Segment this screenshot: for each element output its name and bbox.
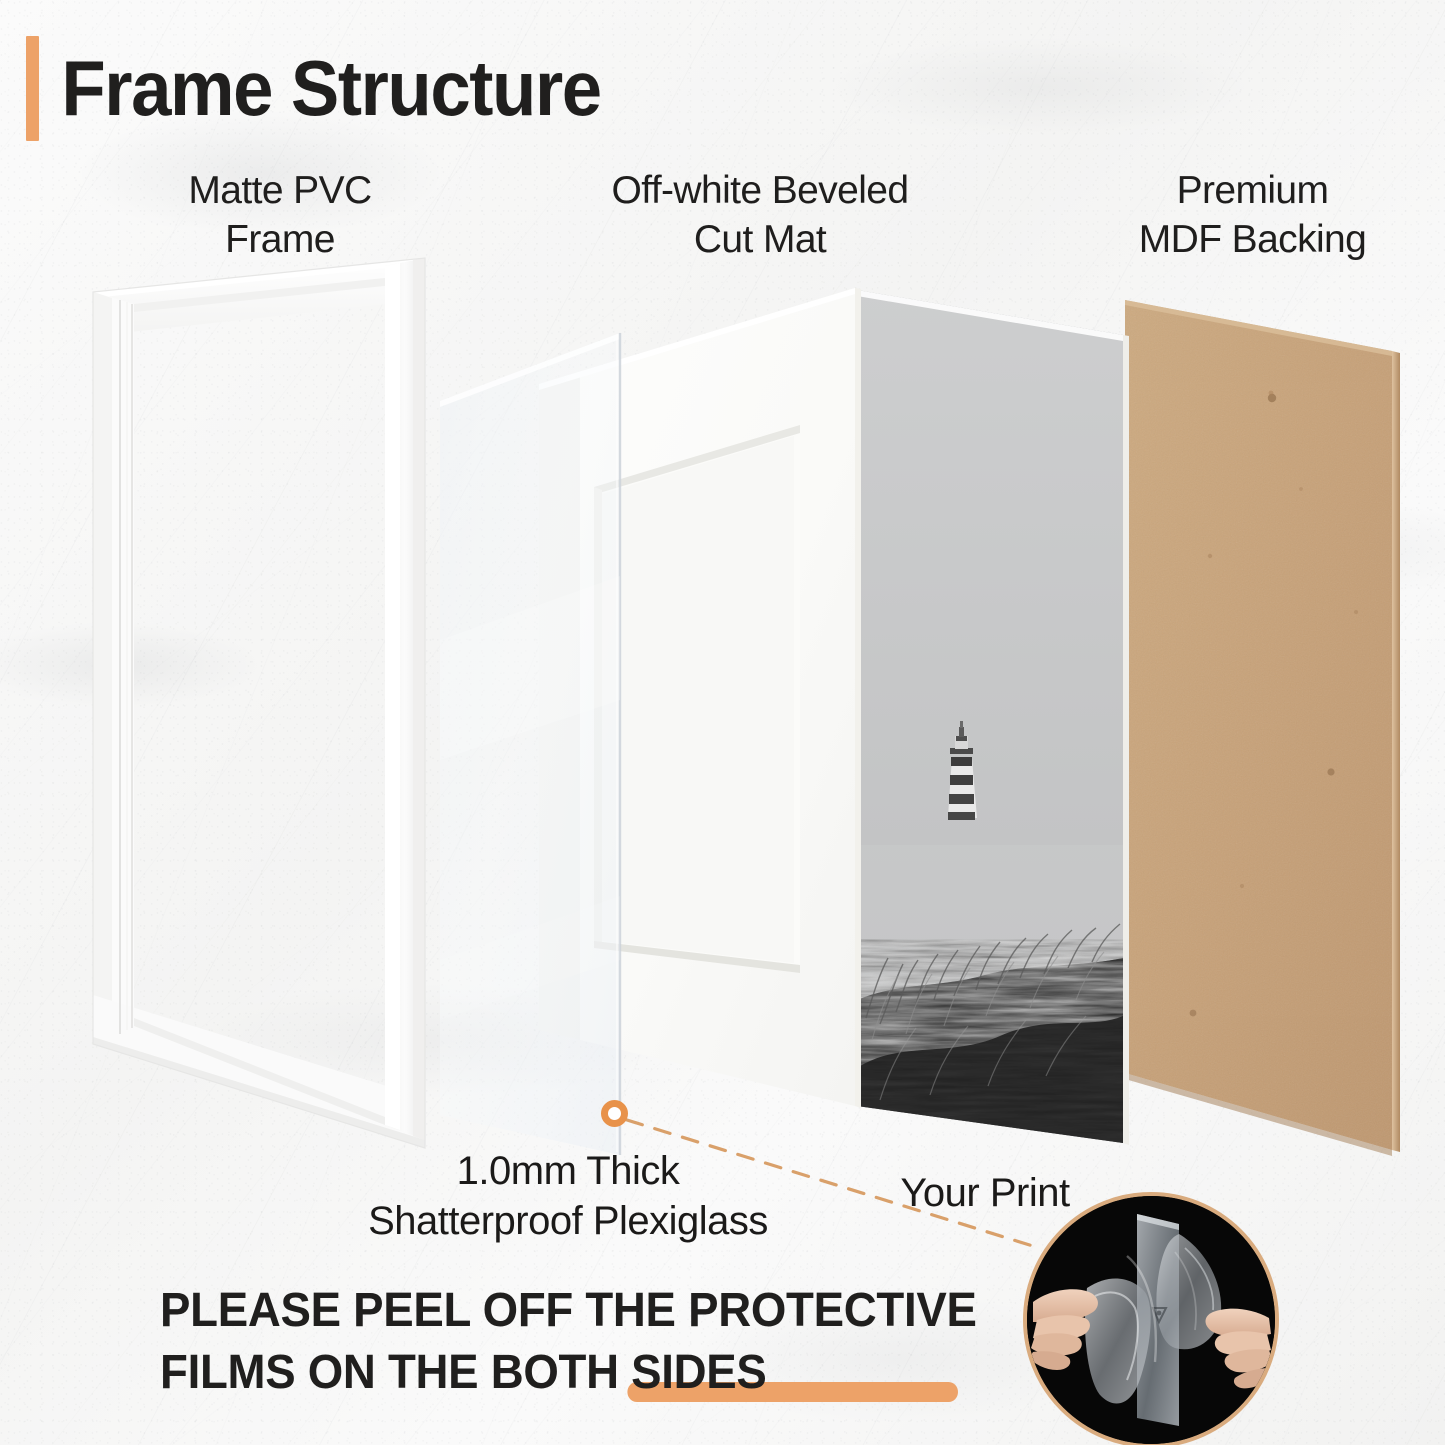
peel-notice-highlight: BOTH SIDES — [491, 1346, 767, 1399]
plexiglass-layer — [440, 333, 620, 1155]
peel-notice-prefix: FILMS ON THE — [160, 1346, 491, 1399]
peel-notice-line-2: FILMS ON THE BOTH SIDES — [160, 1342, 767, 1404]
mdf-backing-layer — [1120, 290, 1400, 1160]
callout-line-2: Shatterproof Plexiglass — [258, 1196, 878, 1246]
callout-your-print: Your Print — [855, 1168, 1115, 1218]
pvc-frame-layer — [93, 258, 425, 1148]
callout-line-1: 1.0mm Thick — [258, 1146, 878, 1196]
peel-protective-film-photo — [1023, 1192, 1279, 1445]
photo-print-layer — [850, 285, 1140, 1160]
peel-notice-line-1: PLEASE PEEL OFF THE PROTECTIVE — [160, 1280, 996, 1342]
callout-plexiglass: 1.0mm Thick Shatterproof Plexiglass — [258, 1146, 878, 1246]
ring-marker-icon — [601, 1100, 628, 1127]
peel-notice: PLEASE PEEL OFF THE PROTECTIVE FILMS ON … — [160, 1280, 996, 1404]
